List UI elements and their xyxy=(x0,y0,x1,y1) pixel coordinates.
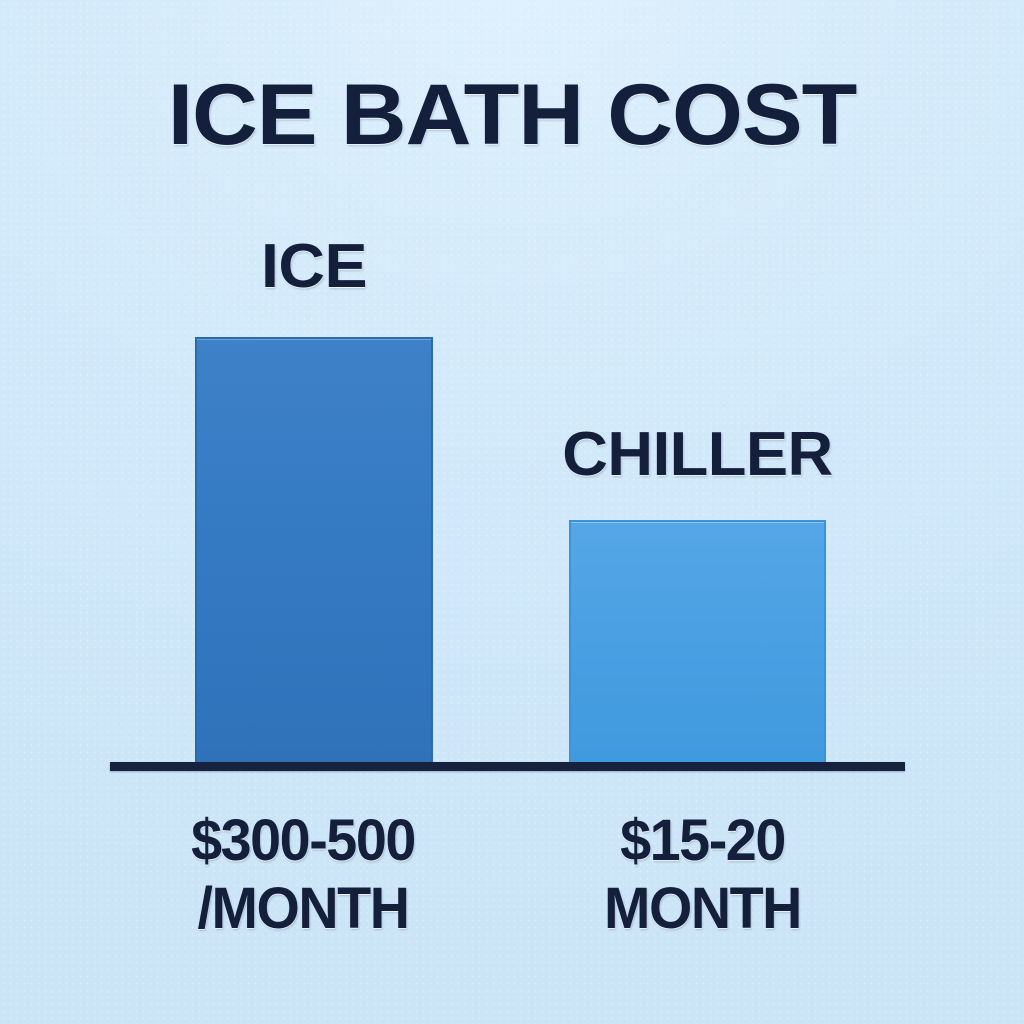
bar-label-ice: ICE xyxy=(190,236,438,298)
value-label-ice-line2: /MONTH xyxy=(127,880,478,938)
axis-baseline xyxy=(110,762,905,771)
value-label-ice-line1: $300-500 xyxy=(191,808,415,873)
infographic-canvas: ICE BATH COST ICE CHILLER $300-500 /MONT… xyxy=(0,0,1024,1024)
bar-chiller xyxy=(569,520,826,765)
bar-ice xyxy=(195,337,433,765)
page-title: ICE BATH COST xyxy=(0,72,1024,158)
value-label-ice: $300-500 /MONTH xyxy=(127,812,478,938)
bar-label-chiller: CHILLER xyxy=(542,424,853,486)
value-label-chiller: $15-20 MONTH xyxy=(566,812,840,938)
value-label-chiller-line1: $15-20 xyxy=(620,808,785,873)
value-label-chiller-line2: MONTH xyxy=(566,880,840,938)
